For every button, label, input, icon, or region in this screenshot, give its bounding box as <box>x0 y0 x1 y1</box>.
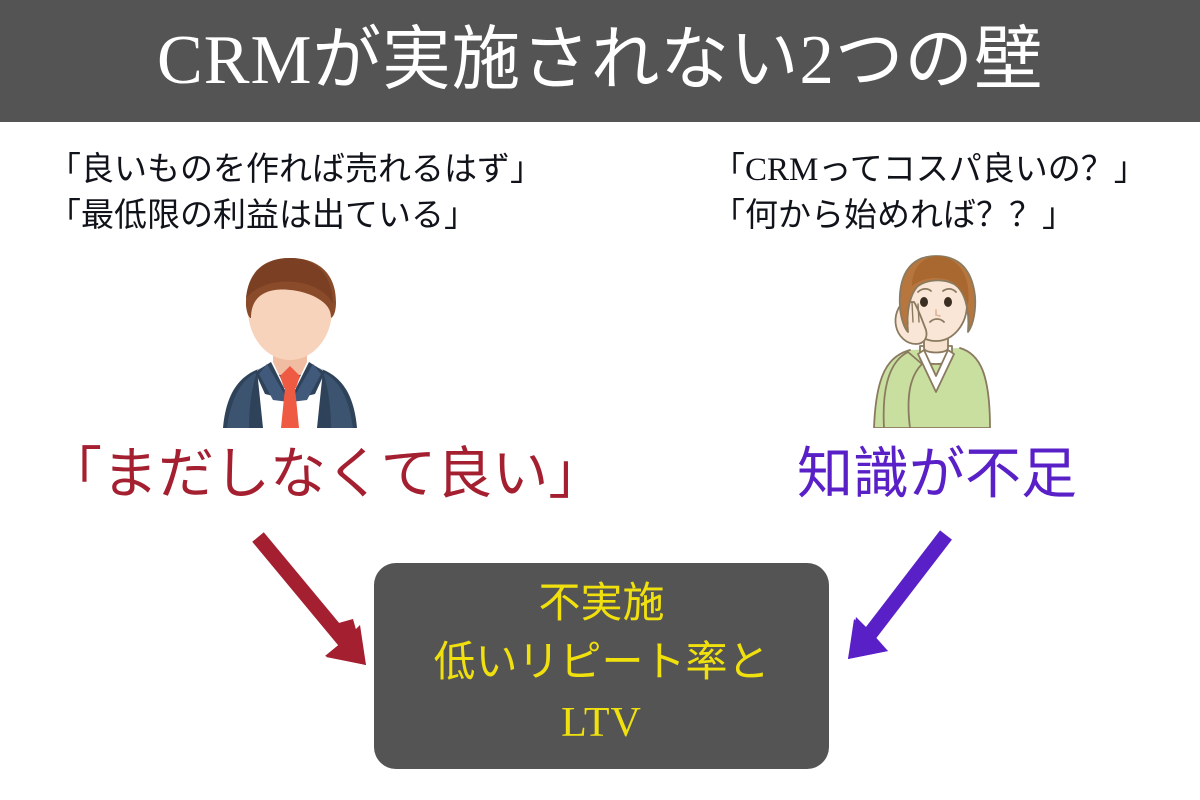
right-quote-block: 「CRMってコスパ良いの？」 「何から始めれば？？」 <box>712 148 1147 239</box>
worried-woman-avatar-icon <box>862 250 1017 428</box>
result-line-3: LTV <box>561 694 642 754</box>
infographic-canvas: CRMが実施されない2つの壁 「良いものを作れば売れるはず」 「最低限の利益は出… <box>0 0 1200 800</box>
left-quote-line-1: 「良いものを作れば売れるはず」 <box>48 148 543 194</box>
left-quote-block: 「良いものを作れば売れるはず」 「最低限の利益は出ている」 <box>48 148 543 239</box>
purple-arrow-down-left-icon <box>820 515 1000 685</box>
result-line-1: 不実施 <box>538 575 664 635</box>
page-title: CRMが実施されない2つの壁 <box>157 26 1044 96</box>
left-callout-label: 「まだしなくて良い」 <box>46 447 604 503</box>
result-line-2: 低いリピート率と <box>433 634 769 694</box>
businessman-avatar-icon <box>205 252 375 428</box>
right-quote-line-1: 「CRMってコスパ良いの？」 <box>712 148 1147 194</box>
left-quote-line-2: 「最低限の利益は出ている」 <box>48 194 543 240</box>
result-box: 不実施 低いリピート率と LTV <box>374 563 829 769</box>
right-callout-label: 知識が不足 <box>797 447 1077 503</box>
right-quote-line-2: 「何から始めれば？？」 <box>712 194 1147 240</box>
header-bar: CRMが実施されない2つの壁 <box>0 0 1200 122</box>
